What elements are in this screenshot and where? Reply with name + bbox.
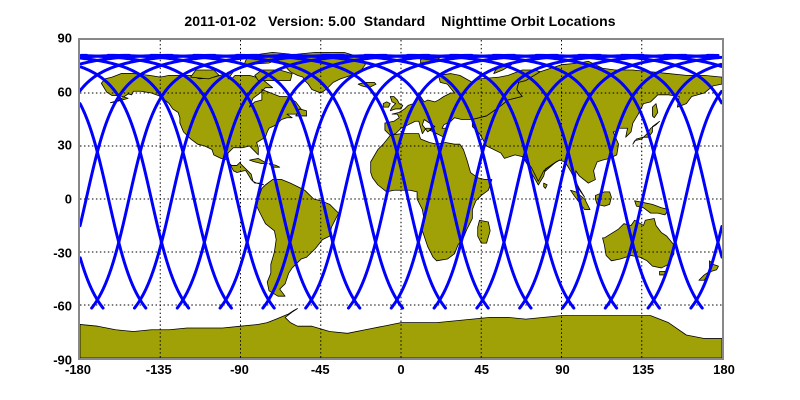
land-south-america (257, 180, 339, 297)
x-tick-label: 0 (397, 362, 404, 377)
plot-area (78, 38, 724, 360)
x-tick-label: 180 (713, 362, 735, 377)
land-ireland (383, 102, 390, 107)
x-tick-label: -45 (311, 362, 330, 377)
y-tick-label: -30 (53, 245, 72, 260)
landmass-layer (80, 52, 722, 358)
orbit-track-ascending-14 (80, 258, 103, 308)
y-tick-label: 0 (65, 192, 72, 207)
x-tick-label: -180 (65, 362, 91, 377)
land-africa (371, 134, 492, 261)
land-sri-lanka (544, 183, 547, 188)
y-tick-label: -60 (53, 299, 72, 314)
x-tick-label: 90 (555, 362, 569, 377)
y-tick-label: 30 (58, 138, 72, 153)
plot-svg (80, 40, 722, 358)
chart-title: 2011-01-02 Version: 5.00 Standard Nightt… (0, 13, 800, 29)
y-tick-label: 90 (58, 31, 72, 46)
y-tick-label: 60 (58, 84, 72, 99)
x-tick-label: 135 (632, 362, 654, 377)
x-tick-label: -90 (230, 362, 249, 377)
x-tick-label: 45 (475, 362, 489, 377)
figure-canvas: 2011-01-02 Version: 5.00 Standard Nightt… (0, 0, 800, 400)
land-sakhalin (652, 104, 657, 118)
land-madagascar (478, 220, 490, 243)
x-tick-label: -135 (146, 362, 172, 377)
